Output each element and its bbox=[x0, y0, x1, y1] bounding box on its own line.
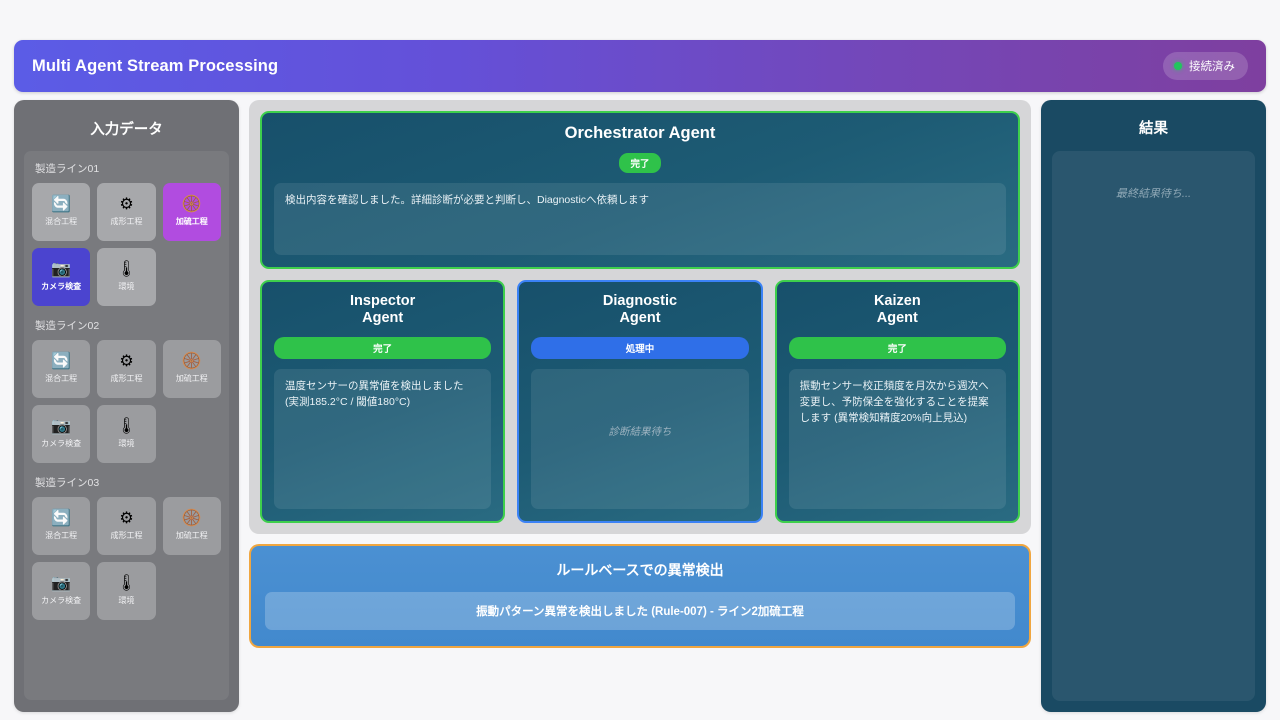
agent-message: 温度センサーの異常値を検出しました (実測185.2°C / 閾値180°C) bbox=[274, 369, 491, 509]
process-tile-label: 加硫工程 bbox=[176, 373, 208, 384]
app-header: Multi Agent Stream Processing 接続済み bbox=[14, 40, 1266, 92]
agent-status-row: 処理中 bbox=[531, 337, 748, 359]
process-tile-grid: 🔄混合工程⚙成形工程🛞加硫工程📷カメラ検査🌡環境 bbox=[32, 340, 221, 463]
process-tile[interactable]: ⚙成形工程 bbox=[97, 340, 155, 398]
agent-title-line1: Inspector bbox=[274, 293, 491, 310]
process-tile-label: 環境 bbox=[118, 438, 134, 449]
orchestrator-title: Orchestrator Agent bbox=[274, 124, 1006, 144]
thermometer-icon: 🌡 bbox=[116, 419, 136, 435]
tire-icon: 🛞 bbox=[182, 511, 202, 527]
sidebar-title: 入力データ bbox=[24, 110, 229, 151]
center-column: Orchestrator Agent 完了 検出内容を確認しました。詳細診断が必… bbox=[249, 100, 1031, 712]
agent-title-line2: Agent bbox=[531, 310, 748, 327]
app-body: 入力データ 製造ライン01🔄混合工程⚙成形工程🛞加硫工程📷カメラ検査🌡環境製造ラ… bbox=[8, 100, 1272, 712]
process-tile-label: カメラ検査 bbox=[41, 438, 81, 449]
camera-icon: 📷 bbox=[51, 576, 71, 592]
agent-status-badge: 完了 bbox=[274, 337, 491, 359]
process-tile-label: 加硫工程 bbox=[176, 216, 208, 227]
process-tile-label: 加硫工程 bbox=[176, 530, 208, 541]
process-tile-label: カメラ検査 bbox=[41, 595, 81, 606]
app-root: Multi Agent Stream Processing 接続済み 入力データ… bbox=[0, 0, 1280, 720]
gear-icon: ⚙ bbox=[119, 511, 133, 527]
process-tile-label: 混合工程 bbox=[45, 373, 77, 384]
process-tile-label: 成形工程 bbox=[110, 530, 142, 541]
process-tile-label: 環境 bbox=[118, 595, 134, 606]
connection-status-badge[interactable]: 接続済み bbox=[1163, 52, 1248, 80]
tire-icon: 🛞 bbox=[182, 197, 202, 213]
status-dot-icon bbox=[1174, 62, 1182, 70]
agent-status-badge: 処理中 bbox=[531, 337, 748, 359]
camera-icon: 📷 bbox=[51, 419, 71, 435]
process-tile-grid: 🔄混合工程⚙成形工程🛞加硫工程📷カメラ検査🌡環境 bbox=[32, 183, 221, 306]
agent-title-line1: Diagnostic bbox=[531, 293, 748, 310]
agent-message-placeholder: 診断結果待ち bbox=[531, 369, 748, 509]
process-tile[interactable]: 📷カメラ検査 bbox=[32, 562, 90, 620]
process-tile[interactable]: 🌡環境 bbox=[97, 562, 155, 620]
agent-card[interactable]: DiagnosticAgent処理中診断結果待ち bbox=[517, 280, 762, 523]
agent-title-line1: Kaizen bbox=[789, 293, 1006, 310]
sidebar-line-list[interactable]: 製造ライン01🔄混合工程⚙成形工程🛞加硫工程📷カメラ検査🌡環境製造ライン02🔄混… bbox=[24, 151, 229, 700]
refresh-icon: 🔄 bbox=[51, 354, 71, 370]
refresh-icon: 🔄 bbox=[51, 511, 71, 527]
agent-cards-row: InspectorAgent完了温度センサーの異常値を検出しました (実測185… bbox=[260, 280, 1020, 523]
camera-icon: 📷 bbox=[51, 262, 71, 278]
process-tile-label: 成形工程 bbox=[110, 373, 142, 384]
process-tile[interactable]: ⚙成形工程 bbox=[97, 183, 155, 241]
gear-icon: ⚙ bbox=[119, 354, 133, 370]
connection-status-label: 接続済み bbox=[1189, 58, 1235, 74]
agent-title-line2: Agent bbox=[789, 310, 1006, 327]
agent-message-placeholder-text: 診断結果待ち bbox=[608, 378, 671, 440]
production-line-group: 製造ライン01🔄混合工程⚙成形工程🛞加硫工程📷カメラ検査🌡環境 bbox=[32, 159, 221, 306]
agent-status-badge: 完了 bbox=[789, 337, 1006, 359]
results-title: 結果 bbox=[1052, 111, 1255, 151]
process-tile[interactable]: 🔄混合工程 bbox=[32, 497, 90, 555]
agent-title-line2: Agent bbox=[274, 310, 491, 327]
process-tile[interactable]: 🌡環境 bbox=[97, 248, 155, 306]
process-tile-label: 混合工程 bbox=[45, 216, 77, 227]
process-tile[interactable]: 🔄混合工程 bbox=[32, 183, 90, 241]
process-tile-label: 環境 bbox=[118, 281, 134, 292]
rule-based-detection-panel[interactable]: ルールベースでの異常検出 振動パターン異常を検出しました (Rule-007) … bbox=[249, 544, 1031, 648]
process-tile[interactable]: 🛞加硫工程 bbox=[163, 340, 221, 398]
agent-card[interactable]: KaizenAgent完了振動センサー校正頻度を月次から週次へ変更し、予防保全を… bbox=[775, 280, 1020, 523]
process-tile[interactable]: 🛞加硫工程 bbox=[163, 183, 221, 241]
process-tile-grid: 🔄混合工程⚙成形工程🛞加硫工程📷カメラ検査🌡環境 bbox=[32, 497, 221, 620]
orchestrator-status-badge: 完了 bbox=[619, 153, 660, 173]
process-tile[interactable]: 🌡環境 bbox=[97, 405, 155, 463]
process-tile-label: カメラ検査 bbox=[41, 281, 81, 292]
production-line-group: 製造ライン02🔄混合工程⚙成形工程🛞加硫工程📷カメラ検査🌡環境 bbox=[32, 316, 221, 463]
rule-panel-title: ルールベースでの異常検出 bbox=[265, 560, 1015, 580]
thermometer-icon: 🌡 bbox=[116, 576, 136, 592]
production-line-label: 製造ライン02 bbox=[32, 316, 221, 340]
production-line-label: 製造ライン01 bbox=[32, 159, 221, 183]
gear-icon: ⚙ bbox=[119, 197, 133, 213]
process-tile[interactable]: ⚙成形工程 bbox=[97, 497, 155, 555]
tire-icon: 🛞 bbox=[182, 354, 202, 370]
process-tile[interactable]: 📷カメラ検査 bbox=[32, 405, 90, 463]
production-line-group: 製造ライン03🔄混合工程⚙成形工程🛞加硫工程📷カメラ検査🌡環境 bbox=[32, 473, 221, 620]
agent-status-row: 完了 bbox=[274, 337, 491, 359]
process-tile-label: 成形工程 bbox=[110, 216, 142, 227]
process-tile[interactable]: 📷カメラ検査 bbox=[32, 248, 90, 306]
thermometer-icon: 🌡 bbox=[116, 262, 136, 278]
results-panel: 結果 最終結果待ち... bbox=[1041, 100, 1266, 712]
agent-card[interactable]: InspectorAgent完了温度センサーの異常値を検出しました (実測185… bbox=[260, 280, 505, 523]
process-tile[interactable]: 🔄混合工程 bbox=[32, 340, 90, 398]
orchestrator-message: 検出内容を確認しました。詳細診断が必要と判断し、Diagnosticへ依頼します bbox=[274, 183, 1006, 255]
process-tile[interactable]: 🛞加硫工程 bbox=[163, 497, 221, 555]
input-data-sidebar: 入力データ 製造ライン01🔄混合工程⚙成形工程🛞加硫工程📷カメラ検査🌡環境製造ラ… bbox=[14, 100, 239, 712]
refresh-icon: 🔄 bbox=[51, 197, 71, 213]
page-title: Multi Agent Stream Processing bbox=[32, 57, 278, 76]
agent-message: 振動センサー校正頻度を月次から週次へ変更し、予防保全を強化することを提案します … bbox=[789, 369, 1006, 509]
agent-status-row: 完了 bbox=[789, 337, 1006, 359]
process-tile-label: 混合工程 bbox=[45, 530, 77, 541]
production-line-label: 製造ライン03 bbox=[32, 473, 221, 497]
orchestrator-status-row: 完了 bbox=[274, 153, 1006, 173]
agents-container: Orchestrator Agent 完了 検出内容を確認しました。詳細診断が必… bbox=[249, 100, 1031, 534]
rule-panel-message: 振動パターン異常を検出しました (Rule-007) - ライン2加硫工程 bbox=[265, 592, 1015, 630]
results-placeholder: 最終結果待ち... bbox=[1052, 151, 1255, 701]
orchestrator-agent-card[interactable]: Orchestrator Agent 完了 検出内容を確認しました。詳細診断が必… bbox=[260, 111, 1020, 269]
